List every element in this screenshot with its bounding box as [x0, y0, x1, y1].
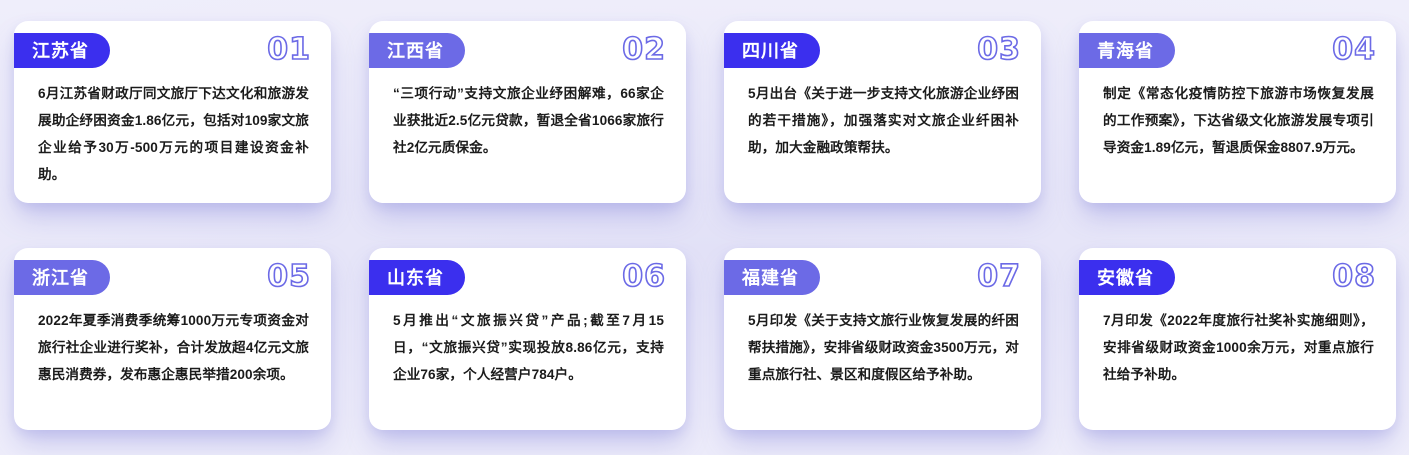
- card-header: 青海省04: [1079, 21, 1396, 75]
- province-card[interactable]: 浙江省052022年夏季消费季统筹1000万元专项资金对旅行社企业进行奖补，合计…: [14, 248, 331, 430]
- card-body-text: 7月印发《2022年度旅行社奖补实施细则》，安排省级财政资金1000余万元，对重…: [1079, 302, 1396, 388]
- card-header: 安徽省08: [1079, 248, 1396, 302]
- card-index-number: 06: [622, 262, 666, 292]
- province-card[interactable]: 青海省04制定《常态化疫情防控下旅游市场恢复发展的工作预案》，下达省级文化旅游发…: [1079, 21, 1396, 203]
- card-body-text: 5月出台《关于进一步支持文化旅游企业纾困的若干措施》，加强落实对文旅企业纤困补助…: [724, 75, 1041, 161]
- card-body-text: “三项行动”支持文旅企业纾困解难，66家企业获批近2.5亿元贷款，暂退全省106…: [369, 75, 686, 161]
- card-index-number: 08: [1332, 262, 1376, 292]
- card-body-text: 制定《常态化疫情防控下旅游市场恢复发展的工作预案》，下达省级文化旅游发展专项引导…: [1079, 75, 1396, 161]
- card-header: 江西省02: [369, 21, 686, 75]
- card-index-number: 01: [267, 35, 311, 65]
- province-card[interactable]: 四川省035月出台《关于进一步支持文化旅游企业纾困的若干措施》，加强落实对文旅企…: [724, 21, 1041, 203]
- card-body-text: 6月江苏省财政厅同文旅厅下达文化和旅游发展助企纾困资金1.86亿元，包括对109…: [14, 75, 331, 188]
- card-index-number: 04: [1332, 35, 1376, 65]
- province-badge: 安徽省: [1079, 260, 1175, 295]
- province-badge: 青海省: [1079, 33, 1175, 68]
- province-card[interactable]: 江苏省016月江苏省财政厅同文旅厅下达文化和旅游发展助企纾困资金1.86亿元，包…: [14, 21, 331, 203]
- card-body-text: 5月印发《关于支持文旅行业恢复发展的纤困帮扶措施》，安排省级财政资金3500万元…: [724, 302, 1041, 388]
- province-card[interactable]: 安徽省087月印发《2022年度旅行社奖补实施细则》，安排省级财政资金1000余…: [1079, 248, 1396, 430]
- province-card[interactable]: 山东省065月推出“文旅振兴贷”产品;截至7月15日，“文旅振兴贷”实现投放8.…: [369, 248, 686, 430]
- province-card[interactable]: 江西省02“三项行动”支持文旅企业纾困解难，66家企业获批近2.5亿元贷款，暂退…: [369, 21, 686, 203]
- province-badge: 山东省: [369, 260, 465, 295]
- province-badge: 江苏省: [14, 33, 110, 68]
- card-header: 福建省07: [724, 248, 1041, 302]
- province-badge: 四川省: [724, 33, 820, 68]
- card-header: 四川省03: [724, 21, 1041, 75]
- province-card[interactable]: 福建省075月印发《关于支持文旅行业恢复发展的纤困帮扶措施》，安排省级财政资金3…: [724, 248, 1041, 430]
- card-header: 山东省06: [369, 248, 686, 302]
- card-index-number: 07: [977, 262, 1021, 292]
- province-badge: 江西省: [369, 33, 465, 68]
- card-header: 浙江省05: [14, 248, 331, 302]
- province-card-grid: 江苏省016月江苏省财政厅同文旅厅下达文化和旅游发展助企纾困资金1.86亿元，包…: [0, 0, 1409, 430]
- card-body-text: 5月推出“文旅振兴贷”产品;截至7月15日，“文旅振兴贷”实现投放8.86亿元，…: [369, 302, 686, 388]
- province-badge: 浙江省: [14, 260, 110, 295]
- card-index-number: 05: [267, 262, 311, 292]
- card-index-number: 02: [622, 35, 666, 65]
- card-header: 江苏省01: [14, 21, 331, 75]
- card-index-number: 03: [977, 35, 1021, 65]
- province-badge: 福建省: [724, 260, 820, 295]
- card-body-text: 2022年夏季消费季统筹1000万元专项资金对旅行社企业进行奖补，合计发放超4亿…: [14, 302, 331, 388]
